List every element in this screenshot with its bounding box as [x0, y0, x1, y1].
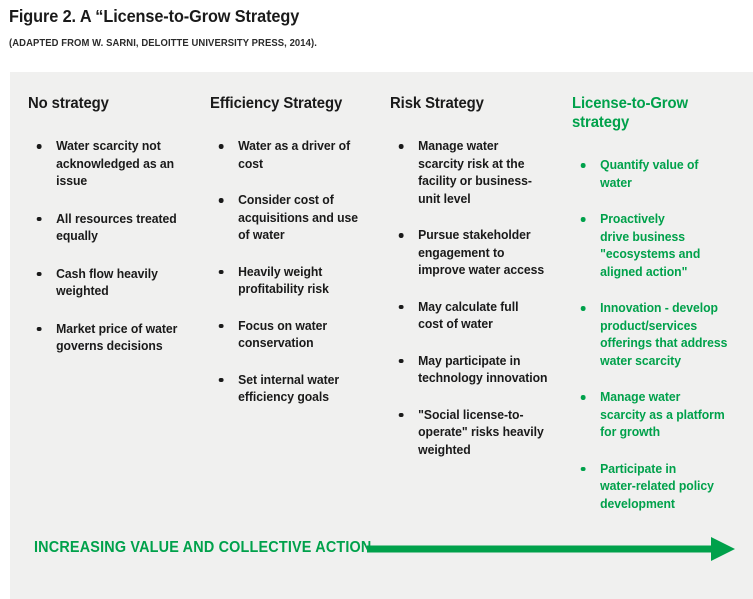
list-item: Set internal water efficiency goals: [210, 372, 377, 407]
strategy-column-no-strategy: No strategy Water scarcity not acknowled…: [10, 72, 197, 527]
figure-source-note: (ADAPTED FROM W. SARNI, DELOITTE UNIVERS…: [9, 37, 679, 49]
list-item: Focus on water conservation: [210, 318, 377, 353]
list-item: May calculate full cost of water: [390, 299, 562, 334]
bullet-list-efficiency-strategy: Water as a driver of cost Consider cost …: [210, 138, 382, 407]
strategy-column-efficiency-strategy: Efficiency Strategy Water as a driver of…: [197, 72, 382, 527]
strategy-column-risk-strategy: Risk Strategy Manage water scarcity risk…: [382, 72, 567, 527]
banner-label: INCREASING VALUE AND COLLECTIVE ACTION: [34, 539, 372, 557]
list-item: Quantify value of water: [572, 157, 748, 192]
list-item: May participate in technology innovation: [390, 353, 562, 388]
increasing-value-banner: INCREASING VALUE AND COLLECTIVE ACTION: [10, 527, 753, 599]
column-heading-license-to-grow-strategy: License-to-Grow strategy: [572, 94, 746, 132]
list-item: Heavily weight profitability risk: [210, 264, 377, 299]
list-item: Participate in water-related policy deve…: [572, 461, 748, 514]
list-item: Water as a driver of cost: [210, 138, 377, 173]
page-title: Figure 2. A “License-to-Grow Strategy: [9, 6, 701, 26]
figure-header: Figure 2. A “License-to-Grow Strategy (A…: [0, 0, 753, 72]
column-heading-risk-strategy: Risk Strategy: [390, 94, 560, 113]
column-heading-efficiency-strategy: Efficiency Strategy: [210, 94, 375, 113]
list-item: "Social license-to- operate" risks heavi…: [390, 407, 562, 460]
list-item: Innovation - develop product/services of…: [572, 300, 748, 370]
list-item: Consider cost of acquisitions and use of…: [210, 192, 377, 245]
list-item: Cash flow heavily weighted: [28, 266, 192, 301]
list-item: Manage water scarcity risk at the facili…: [390, 138, 562, 208]
strategy-column-license-to-grow-strategy: License-to-Grow strategy Quantify value …: [567, 72, 753, 527]
strategy-columns: No strategy Water scarcity not acknowled…: [10, 72, 753, 527]
list-item: Proactively drive business "ecosystems a…: [572, 211, 748, 281]
bullet-list-no-strategy: Water scarcity not acknowledged as an is…: [28, 138, 197, 356]
list-item: Market price of water governs decisions: [28, 321, 192, 356]
bullet-list-risk-strategy: Manage water scarcity risk at the facili…: [390, 138, 567, 459]
strategy-matrix-panel: No strategy Water scarcity not acknowled…: [10, 72, 753, 599]
list-item: Water scarcity not acknowledged as an is…: [28, 138, 192, 191]
bullet-list-license-to-grow-strategy: Quantify value of water Proactively driv…: [572, 157, 753, 513]
list-item: All resources treated equally: [28, 211, 192, 246]
right-arrow-icon: [367, 535, 735, 563]
list-item: Manage water scarcity as a platform for …: [572, 389, 748, 442]
list-item: Pursue stakeholder engagement to improve…: [390, 227, 562, 280]
column-heading-no-strategy: No strategy: [28, 94, 190, 113]
